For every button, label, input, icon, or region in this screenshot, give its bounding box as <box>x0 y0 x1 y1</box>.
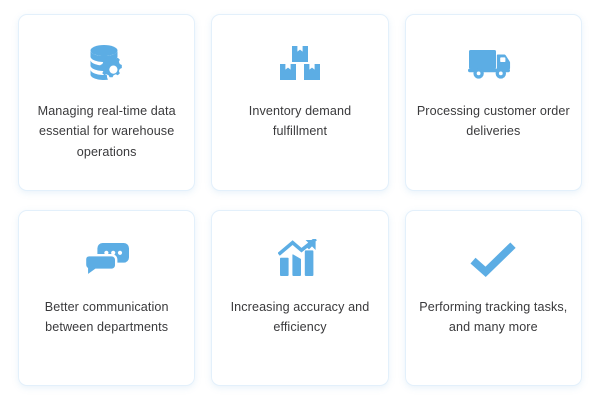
boxes-stack-icon <box>278 39 322 87</box>
checkmark-icon <box>469 235 517 283</box>
feature-card-inventory[interactable]: Inventory demand fulfillment <box>211 14 388 191</box>
bar-chart-growth-icon <box>278 235 322 283</box>
feature-card-tracking[interactable]: Performing tracking tasks, and many more <box>405 210 582 387</box>
feature-card-accuracy[interactable]: Increasing accuracy and efficiency <box>211 210 388 387</box>
feature-card-label: Performing tracking tasks, and many more <box>416 297 571 338</box>
delivery-truck-icon <box>467 39 519 87</box>
feature-card-label: Processing customer order deliveries <box>416 101 571 142</box>
feature-card-label: Managing real-time data essential for wa… <box>29 101 184 162</box>
feature-card-delivery[interactable]: Processing customer order deliveries <box>405 14 582 191</box>
chat-bubbles-icon <box>84 235 130 283</box>
feature-card-database[interactable]: Managing real-time data essential for wa… <box>18 14 195 191</box>
feature-card-grid: Managing real-time data essential for wa… <box>0 0 600 400</box>
feature-card-label: Increasing accuracy and efficiency <box>222 297 377 338</box>
feature-card-communication[interactable]: Better communication between departments <box>18 210 195 387</box>
database-gear-icon <box>83 39 131 87</box>
feature-card-label: Inventory demand fulfillment <box>222 101 377 142</box>
feature-card-label: Better communication between departments <box>29 297 184 338</box>
